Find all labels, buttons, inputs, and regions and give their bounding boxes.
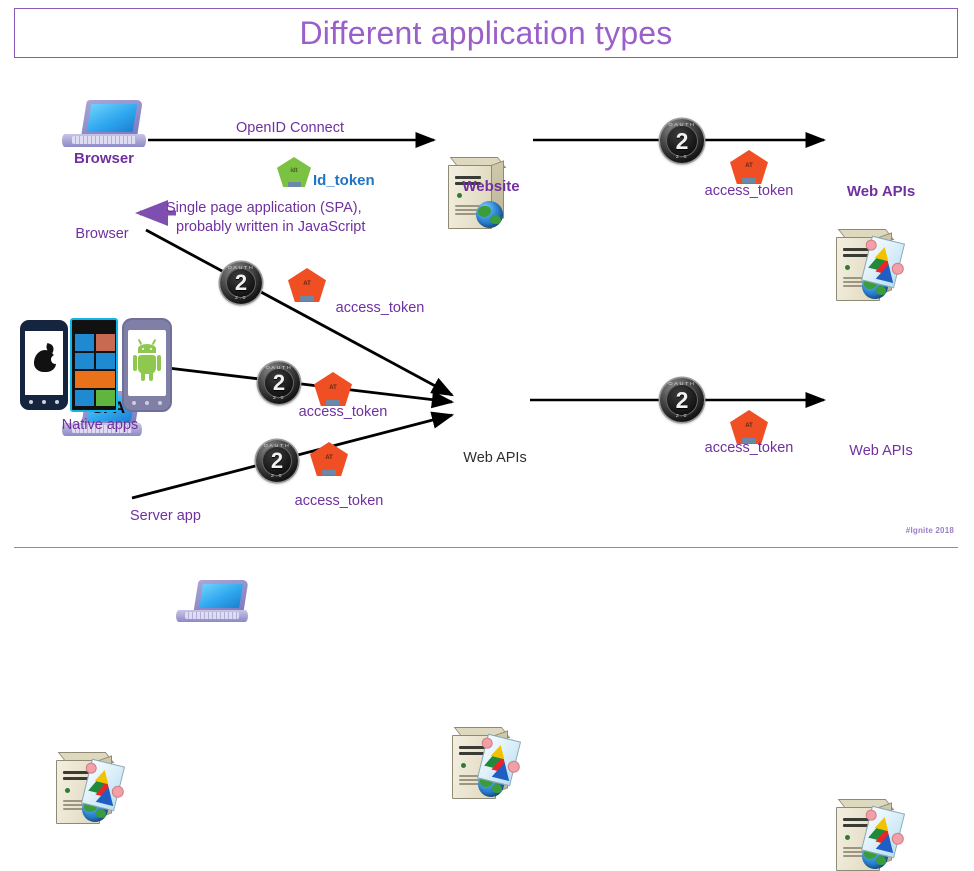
- downstream-web-apis-label: Web APIs: [826, 443, 936, 459]
- apple-logo-icon: [34, 344, 56, 374]
- api-document-icon: [477, 734, 521, 787]
- oauth2-badge-spa: OAUTH 2 2.0: [220, 262, 262, 304]
- oauth2-bottom-text: 2.0: [660, 155, 704, 160]
- page-title: Different application types: [299, 15, 672, 52]
- server-app-icon: [56, 752, 136, 824]
- api-document-icon: [861, 236, 905, 289]
- server-app-label: Server app: [130, 508, 230, 524]
- oauth2-badge-server: OAUTH 2 2.0: [256, 440, 298, 482]
- oauth2-top-text: OAUTH: [660, 123, 704, 128]
- access-token-code: AT: [730, 423, 768, 429]
- id-token-badge: idt: [277, 157, 311, 187]
- oauth2-bottom-text: 2.0: [256, 474, 298, 479]
- access-token-badge: AT: [730, 150, 768, 184]
- footer-divider: [14, 547, 958, 548]
- oauth2-badge-downstream: OAUTH 2 2.0: [660, 378, 704, 422]
- connector-arrows: [0, 0, 974, 558]
- openid-connect-label: OpenID Connect: [200, 120, 380, 136]
- access-token-badge-downstream: AT: [730, 410, 768, 444]
- browser-laptop-icon: [62, 100, 146, 152]
- native-laptop-icon: [176, 580, 248, 626]
- access-token-label-downstream: access_token: [693, 440, 805, 456]
- iphone-icon: [20, 320, 68, 410]
- oauth2-top-text: OAUTH: [660, 382, 704, 387]
- api-document-icon: [861, 806, 905, 859]
- access-token-badge-spa: AT: [288, 268, 326, 302]
- android-phone-icon: [122, 318, 172, 412]
- oauth2-number: 2: [271, 450, 283, 472]
- web-apis-label-top: Web APIs: [826, 183, 936, 200]
- access-token-code: AT: [310, 455, 348, 461]
- website-label: Website: [436, 178, 546, 195]
- web-apis-server-icon-top: [836, 229, 914, 301]
- spa-note-line2: probably written in JavaScript: [176, 219, 416, 235]
- access-token-label-native: access_token: [287, 404, 399, 420]
- spa-note-line1: Single page application (SPA),: [166, 200, 406, 216]
- center-web-apis-icon: [452, 727, 532, 799]
- id-token-label: Id_token: [313, 172, 403, 189]
- oauth2-bottom-text: 2.0: [258, 396, 300, 401]
- slide-title-box: Different application types: [14, 8, 958, 58]
- center-web-apis-label: Web APIs: [440, 450, 550, 466]
- id-token-code: idt: [277, 168, 311, 174]
- oauth2-badge-native: OAUTH 2 2.0: [258, 362, 300, 404]
- oauth2-number: 2: [676, 130, 689, 153]
- downstream-web-apis-icon: [836, 799, 916, 871]
- access-token-code: AT: [730, 163, 768, 169]
- access-token-label-server: access_token: [283, 493, 395, 509]
- globe-icon: [476, 201, 503, 228]
- oauth2-badge: OAUTH 2 2.0: [660, 119, 704, 163]
- windows-tiles: [75, 334, 115, 406]
- footer-hashtag: #Ignite 2018: [906, 526, 954, 535]
- native-apps-label: Native apps: [30, 417, 170, 433]
- oauth2-number: 2: [235, 272, 247, 294]
- windows-phone-icon: [70, 318, 118, 412]
- oauth2-number: 2: [676, 389, 689, 412]
- access-token-label-spa: access_token: [324, 300, 436, 316]
- android-robot-icon: [135, 340, 159, 382]
- oauth2-bottom-text: 2.0: [660, 414, 704, 419]
- oauth2-bottom-text: 2.0: [220, 296, 262, 301]
- api-document-icon: [81, 759, 125, 812]
- browser-label: Browser: [54, 150, 154, 167]
- access-token-code: AT: [314, 385, 352, 391]
- access-token-code: AT: [288, 281, 326, 287]
- access-token-badge-native: AT: [314, 372, 352, 406]
- access-token-label-1: access_token: [693, 183, 805, 199]
- spa-browser-label: Browser: [52, 226, 152, 242]
- access-token-badge-server: AT: [310, 442, 348, 476]
- slide-canvas: Different application types: [0, 0, 974, 558]
- oauth2-number: 2: [273, 372, 285, 394]
